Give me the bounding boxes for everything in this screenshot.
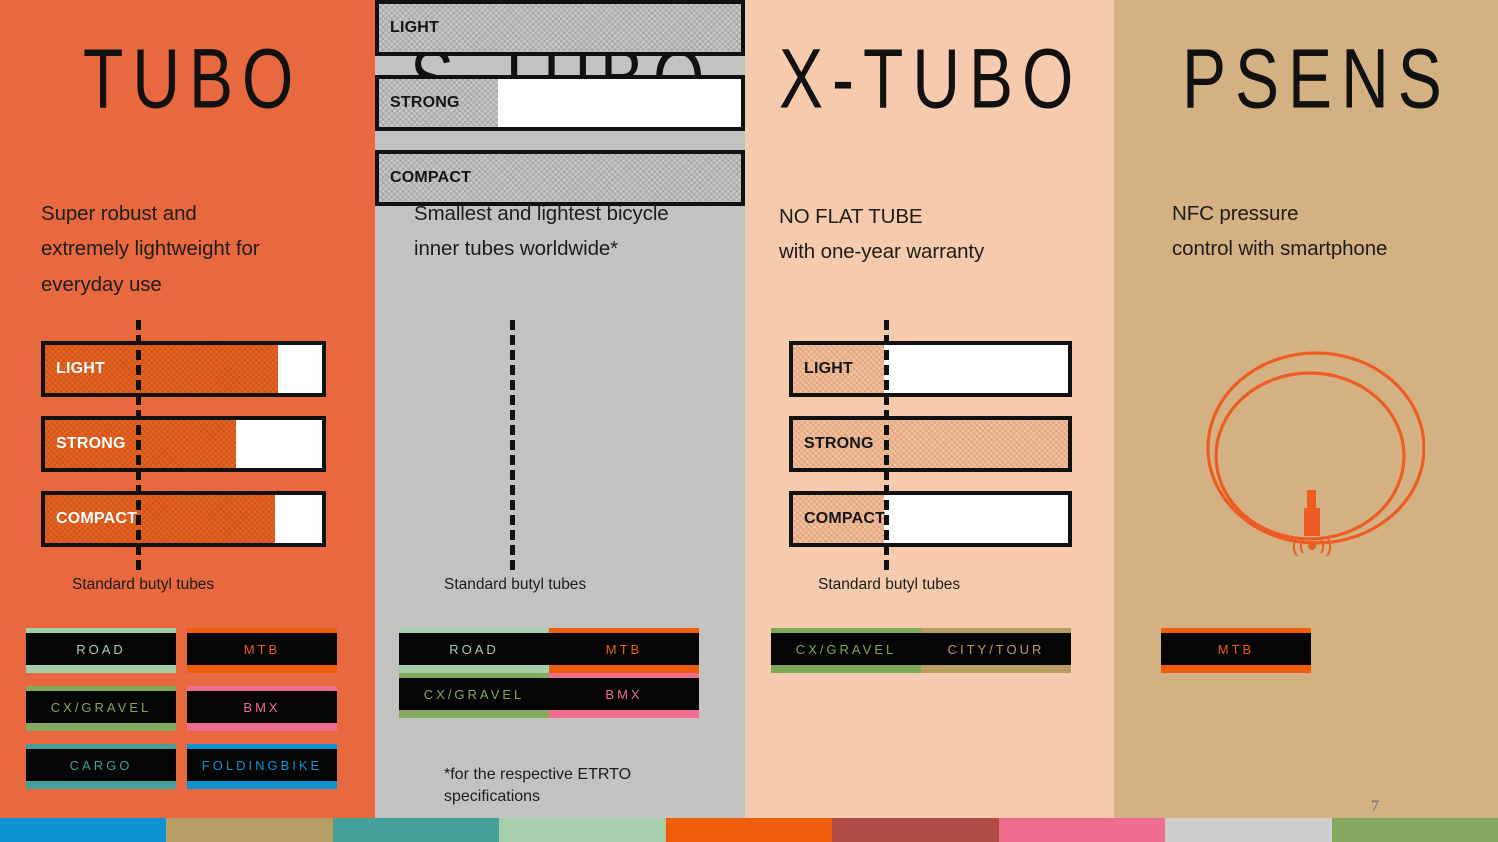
badge-road[interactable]: ROAD [399,628,549,673]
column-title-tubo: TUBO [83,36,302,120]
badge-body: BMX [187,691,337,723]
badge-body: ROAD [26,633,176,665]
badge-mtb[interactable]: MTB [1161,628,1311,673]
column-subtitle-x-tubo: NO FLAT TUBE with one-year warranty [779,199,1099,270]
strip-block [333,818,499,842]
badge-body: MTB [1161,633,1311,665]
badge-body: CITY/TOUR [921,633,1071,665]
footnote-etrto: *for the respective ETRTO specifications [444,764,631,807]
bar-row: COMPACT [375,150,745,206]
strip-block [666,818,832,842]
bar-row: STRONG [375,75,745,131]
badge-cx-gravel[interactable]: CX/GRAVEL [26,686,176,731]
badge-body: CX/GRAVEL [399,678,549,710]
column-subtitle-tubo: Super robust and extremely lightweight f… [41,196,361,302]
badge-stripe-bottom [549,710,699,718]
badge-body: ROAD [399,633,549,665]
strip-block [832,818,998,842]
tube-nfc-sensor-icon [1203,348,1425,560]
strip-block [1332,818,1498,842]
bar-label: LIGHT [56,360,105,378]
bar-label: COMPACT [390,169,471,187]
badge-stripe-bottom [771,665,921,673]
badge-stripe-bottom [26,781,176,789]
bar-label: STRONG [56,435,126,453]
badge-stripe-bottom [26,723,176,731]
badge-stripe-bottom [549,665,699,673]
tube-nfc-sensor-svg [1203,348,1425,560]
column-title-x-tubo: X-TUBO [779,36,1082,120]
bar-row: COMPACT [41,491,326,547]
bar-label: LIGHT [804,360,853,378]
badge-mtb[interactable]: MTB [549,628,699,673]
badge-foldingbike[interactable]: FOLDINGBIKE [187,744,337,789]
badge-body: CX/GRAVEL [26,691,176,723]
badge-bmx[interactable]: BMX [549,673,699,718]
badge-body: MTB [549,633,699,665]
badge-road[interactable]: ROAD [26,628,176,673]
bar-row: COMPACT [789,491,1072,547]
badge-stripe-bottom [1161,665,1311,673]
badge-body: BMX [549,678,699,710]
badge-body: CX/GRAVEL [771,633,921,665]
bar-chart-caption: Standard butyl tubes [818,576,960,594]
bar-chart-tubo: LIGHT STRONG COMPACT [41,341,326,566]
product-column-tubo: TUBO Super robust and extremely lightwei… [0,0,375,818]
bar-chart-x-tubo: LIGHT STRONG COMPACT [789,341,1072,566]
badge-list-tubo: ROAD MTB CX/GRAVEL BMX CARGO [26,628,356,789]
badge-list-x-tubo: CX/GRAVEL CITY/TOUR [771,628,1111,673]
bar-row: STRONG [789,416,1072,472]
badge-stripe-bottom [187,665,337,673]
badge-list-s-tubo: ROAD MTB CX/GRAVEL BMX [399,628,729,718]
bottom-color-strip [0,818,1498,842]
bar-row: LIGHT [41,341,326,397]
badge-cx-gravel[interactable]: CX/GRAVEL [399,673,549,718]
badge-cx-gravel[interactable]: CX/GRAVEL [771,628,921,673]
column-title-psens: PSENS [1182,36,1451,120]
badge-mtb[interactable]: MTB [187,628,337,673]
badge-stripe-bottom [399,665,549,673]
strip-block [166,818,332,842]
badge-body: MTB [187,633,337,665]
badge-body: FOLDINGBIKE [187,749,337,781]
badge-stripe-bottom [26,665,176,673]
column-subtitle-psens: NFC pressure control with smartphone [1172,196,1498,267]
bar-label: STRONG [390,94,460,112]
bar-row: STRONG [41,416,326,472]
badge-city-tour[interactable]: CITY/TOUR [921,628,1071,673]
bar-chart-caption: Standard butyl tubes [444,576,586,594]
strip-block [1165,818,1331,842]
badge-list-psens: MTB [1161,628,1491,673]
strip-block [999,818,1165,842]
strip-block [499,818,665,842]
badge-stripe-bottom [399,710,549,718]
page-number: 7 [1371,798,1379,816]
bar-label: COMPACT [804,510,885,528]
bar-row: LIGHT [375,0,745,56]
badge-bmx[interactable]: BMX [187,686,337,731]
bar-label: COMPACT [56,510,137,528]
strip-block [0,818,166,842]
bar-chart-s-tubo: LIGHT STRONG COMPACT [375,0,745,225]
badge-stripe-bottom [187,781,337,789]
slide-root: TUBO Super robust and extremely lightwei… [0,0,1498,842]
badge-cargo[interactable]: CARGO [26,744,176,789]
bar-label: STRONG [804,435,874,453]
badge-body: CARGO [26,749,176,781]
badge-stripe-bottom [921,665,1071,673]
bar-row: LIGHT [789,341,1072,397]
badge-stripe-bottom [187,723,337,731]
bar-label: LIGHT [390,19,439,37]
bar-chart-caption: Standard butyl tubes [72,576,214,594]
